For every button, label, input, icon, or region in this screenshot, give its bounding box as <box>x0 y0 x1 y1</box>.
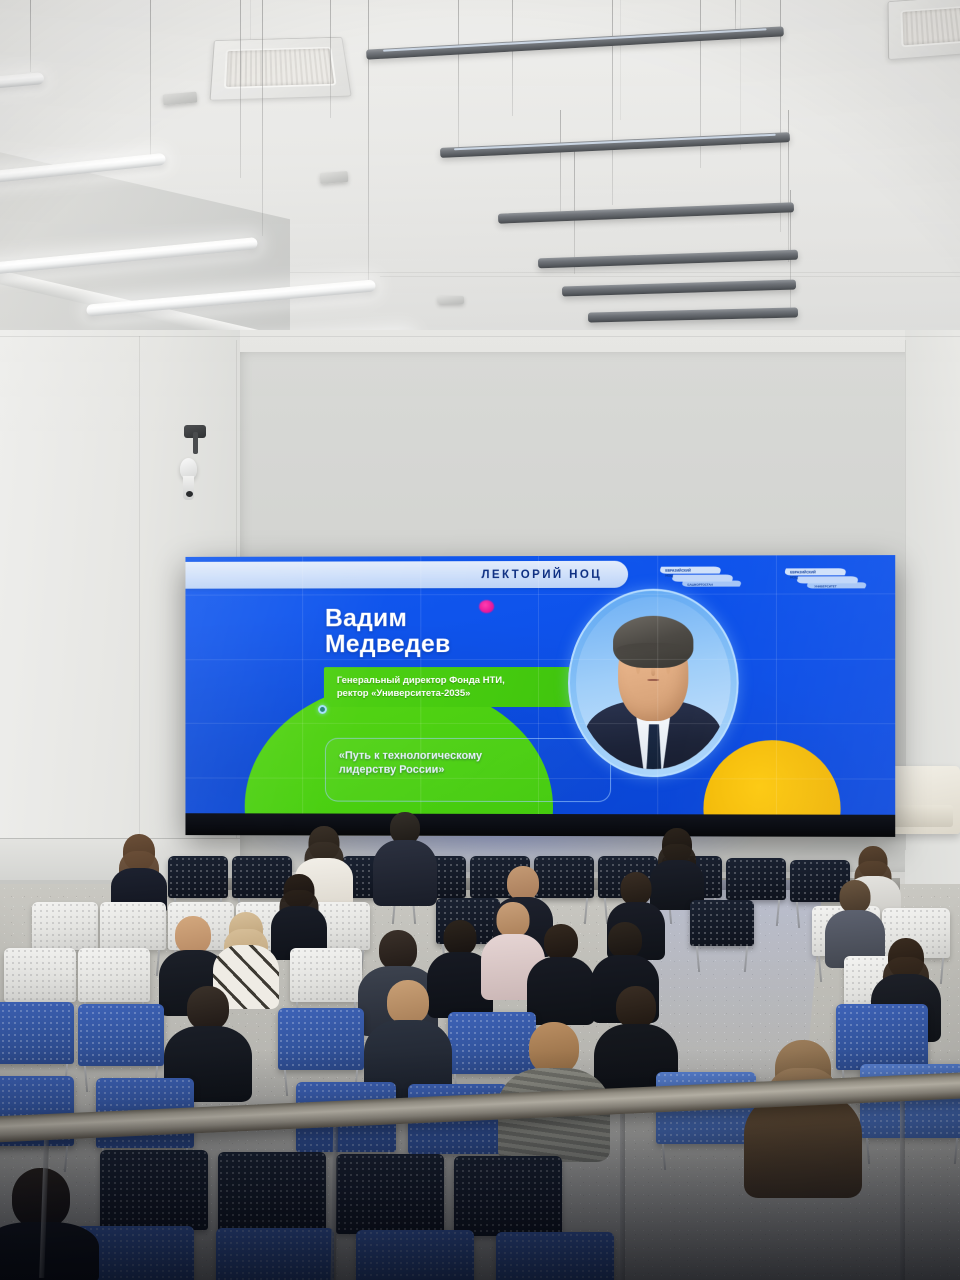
svg-text:ЕВРАЗИЙСКИЙ: ЕВРАЗИЙСКИЙ <box>665 569 691 573</box>
camera-lens-icon <box>186 491 193 497</box>
lecture-hall-photo: ЛЕКТОРИЙ НОЦ ЕВРАЗИЙСКИЙ НОЦ БАШКОРТОСТА… <box>0 0 960 1280</box>
audience-person-presenter <box>374 812 436 904</box>
chair[interactable] <box>454 1156 562 1236</box>
audience-person <box>272 874 326 954</box>
slide-pink-dot <box>479 600 494 613</box>
slide-quote-box: «Путь к технологическому лидерству Росси… <box>325 738 611 802</box>
audience-person <box>366 980 450 1096</box>
ceiling-seam <box>740 0 741 150</box>
chair[interactable] <box>726 858 786 900</box>
chair[interactable] <box>218 1152 326 1232</box>
svg-text:ЕВРАЗИЙСКИЙ: ЕВРАЗИЙСКИЙ <box>790 570 816 574</box>
chair[interactable] <box>216 1228 334 1280</box>
audience-person <box>748 1040 858 1190</box>
chair[interactable] <box>690 900 754 946</box>
camera-mount <box>193 432 198 454</box>
chair[interactable] <box>78 1004 164 1066</box>
chair[interactable] <box>4 948 76 1002</box>
audience-person <box>528 924 594 1022</box>
ceiling-speaker <box>320 171 349 184</box>
logo-mark-icon: ЕВРАЗИЙСКИЙ НОЦ УНИВЕРСИТЕТ <box>780 565 867 591</box>
slide-banner-label: ЛЕКТОРИЙ НОЦ <box>482 568 603 580</box>
quote-line-1: «Путь к технологическому <box>339 750 482 764</box>
chair[interactable] <box>100 1150 208 1230</box>
portrait-image <box>576 597 731 770</box>
logo-eurasian-noc-2: ЕВРАЗИЙСКИЙ НОЦ УНИВЕРСИТЕТ <box>780 565 867 591</box>
svg-text:БАШКОРТОСТАН: БАШКОРТОСТАН <box>687 583 712 587</box>
chair[interactable] <box>336 1154 444 1234</box>
svg-text:УНИВЕРСИТЕТ: УНИВЕРСИТЕТ <box>814 584 837 588</box>
chair[interactable] <box>32 902 98 950</box>
video-wall-screen: ЛЕКТОРИЙ НОЦ ЕВРАЗИЙСКИЙ НОЦ БАШКОРТОСТА… <box>185 555 895 815</box>
audience-person <box>112 834 166 906</box>
speaker-name-line-2: Медведев <box>325 631 451 657</box>
slide-ring-marker-icon <box>318 705 327 714</box>
chair[interactable] <box>356 1230 474 1280</box>
chair[interactable] <box>0 1002 74 1064</box>
chair[interactable] <box>78 948 150 1002</box>
svg-text:НОЦ: НОЦ <box>790 575 798 579</box>
ceiling-seam <box>380 276 960 277</box>
slide-speaker-portrait <box>568 589 739 778</box>
svg-text:НОЦ: НОЦ <box>665 574 673 578</box>
chair[interactable] <box>278 1008 364 1070</box>
video-wall-bezel <box>185 813 895 837</box>
logo-eurasian-noc-1: ЕВРАЗИЙСКИЙ НОЦ БАШКОРТОСТАН <box>655 563 741 589</box>
chair[interactable] <box>290 948 362 1002</box>
slide-top-banner: ЛЕКТОРИЙ НОЦ <box>185 561 628 589</box>
chair[interactable] <box>496 1232 614 1280</box>
quote-line-2: лидерству России» <box>339 764 482 778</box>
ceiling-speaker <box>438 296 464 304</box>
chair[interactable] <box>168 856 228 898</box>
audience-person <box>0 1168 96 1280</box>
chair[interactable] <box>100 902 166 950</box>
slide-speaker-name: Вадим Медведев <box>325 605 451 657</box>
led-video-wall[interactable]: ЛЕКТОРИЙ НОЦ ЕВРАЗИЙСКИЙ НОЦ БАШКОРТОСТА… <box>185 555 895 837</box>
speaker-name-line-1: Вадим <box>325 605 451 631</box>
ac-vent-icon <box>888 0 960 60</box>
logo-mark-icon: ЕВРАЗИЙСКИЙ НОЦ БАШКОРТОСТАН <box>655 563 741 589</box>
ceiling-seam <box>620 0 621 120</box>
lounge-armchair <box>884 766 960 834</box>
